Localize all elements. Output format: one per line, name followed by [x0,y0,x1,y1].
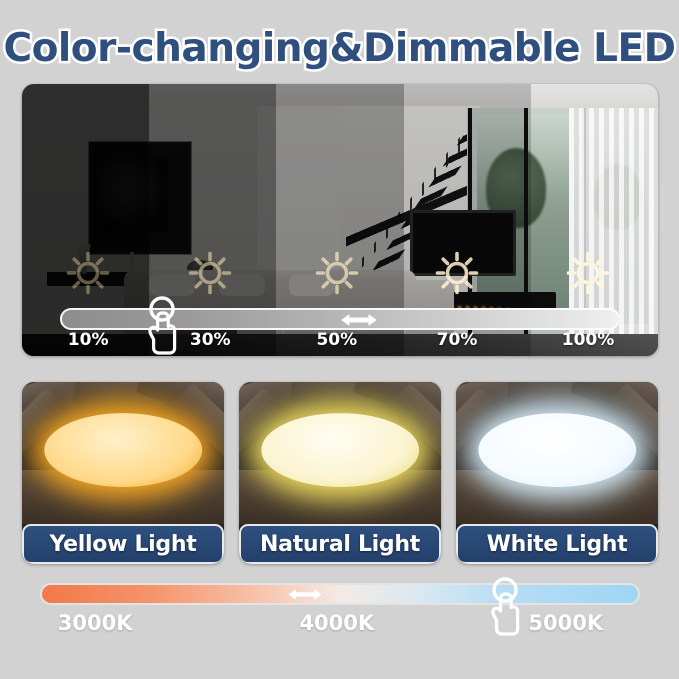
sun-icon [565,250,611,296]
color-temperature-panel: 3000K 4000K 5000K [22,583,658,653]
light-mode-label: Yellow Light [50,532,197,557]
double-arrow-icon [287,588,323,601]
light-mode-cards: Yellow Light Natural Light White Light [22,382,658,564]
sun-icon-row [22,250,658,306]
color-temperature-labels: 3000K 4000K 5000K [22,611,658,641]
sun-icon [65,250,111,296]
dim-label: 10% [68,330,109,350]
sun-icon [187,250,233,296]
dim-label: 100% [562,330,615,350]
light-mode-banner: Yellow Light [22,524,224,564]
ceiling-light-photo [22,382,224,524]
light-mode-label: Natural Light [260,532,420,557]
lamp-dome [478,413,636,487]
temperature-label: 5000K [528,611,603,635]
temperature-label: 3000K [58,611,133,635]
ceiling-light-photo [456,382,658,524]
sun-icon [314,250,360,296]
dim-label: 50% [316,330,357,350]
light-mode-banner: Natural Light [239,524,441,564]
temperature-label: 4000K [299,611,374,635]
lamp-dome [44,413,202,487]
double-arrow-icon [340,313,378,327]
dimming-labels: 10% 30% 50% 70% 100% [22,330,658,356]
light-mode-banner: White Light [456,524,658,564]
light-mode-card[interactable]: White Light [456,382,658,564]
hero-dimming-panel: 10% 30% 50% 70% 100% [22,84,658,356]
light-mode-card[interactable]: Yellow Light [22,382,224,564]
dim-label: 30% [190,330,231,350]
light-mode-card[interactable]: Natural Light [239,382,441,564]
dim-label: 70% [437,330,478,350]
ceiling-light-photo [239,382,441,524]
light-mode-label: White Light [487,532,628,557]
lamp-dome [261,413,419,487]
color-temperature-slider-track[interactable] [40,583,640,605]
page-title: Color-changing&Dimmable LED [0,20,679,76]
sun-icon [434,250,480,296]
page-title-text: Color-changing&Dimmable LED [4,26,676,71]
